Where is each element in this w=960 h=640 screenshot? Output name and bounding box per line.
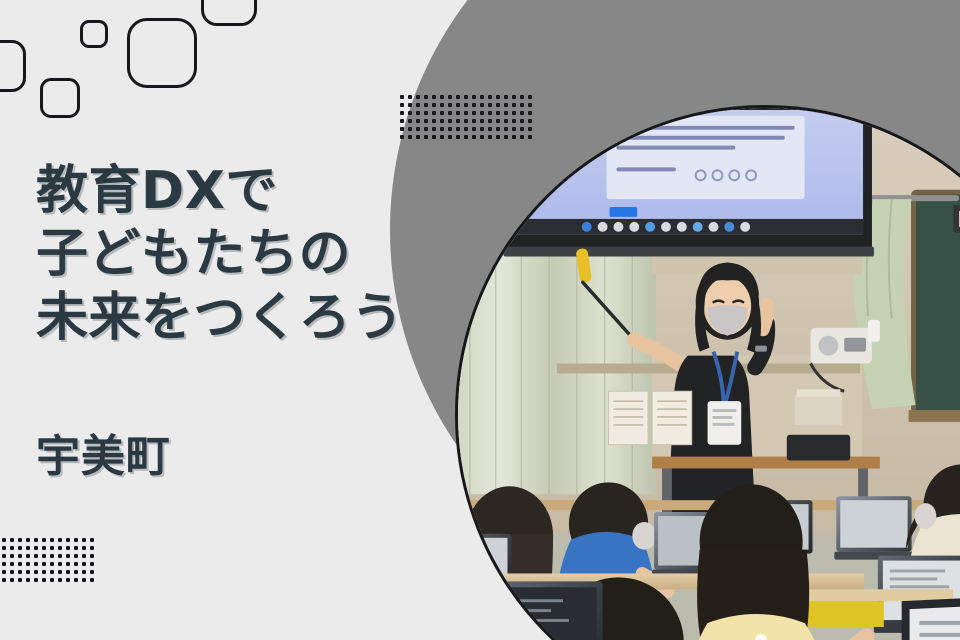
dot <box>34 546 38 550</box>
dot <box>416 135 420 139</box>
dot <box>528 119 532 123</box>
dot <box>528 127 532 131</box>
dot <box>520 95 524 99</box>
dot <box>74 562 78 566</box>
dot <box>2 538 6 542</box>
dot <box>58 546 62 550</box>
rounded-square-3-icon <box>80 20 108 48</box>
rounded-square-1-icon <box>0 40 26 92</box>
dot <box>472 135 476 139</box>
dot <box>90 546 94 550</box>
dot <box>424 135 428 139</box>
dot <box>26 554 30 558</box>
dot <box>66 578 70 582</box>
dot <box>520 119 524 123</box>
dot <box>416 103 420 107</box>
dot-grid-row <box>0 562 94 566</box>
dot <box>50 570 54 574</box>
rounded-square-5-icon <box>201 0 257 26</box>
dot <box>432 127 436 131</box>
dot <box>50 578 54 582</box>
dot <box>50 546 54 550</box>
dot <box>432 103 436 107</box>
dot <box>464 135 468 139</box>
dot <box>82 562 86 566</box>
dot-grid-row <box>0 570 94 574</box>
dot <box>456 135 460 139</box>
dot <box>488 135 492 139</box>
dot <box>66 562 70 566</box>
dot <box>34 538 38 542</box>
dot <box>520 135 524 139</box>
rounded-square-2-icon <box>40 78 80 118</box>
dot <box>400 95 404 99</box>
dot <box>448 95 452 99</box>
dot <box>448 111 452 115</box>
dot <box>400 135 404 139</box>
dot <box>520 127 524 131</box>
dot <box>26 546 30 550</box>
dot <box>90 578 94 582</box>
dot <box>66 570 70 574</box>
dot <box>456 95 460 99</box>
dot <box>456 119 460 123</box>
dot <box>42 538 46 542</box>
dot <box>504 95 508 99</box>
dot <box>82 546 86 550</box>
dot <box>2 562 6 566</box>
dot <box>464 119 468 123</box>
dot-grid-row <box>0 546 94 550</box>
poster-canvas: 教育DXで 子どもたちの 未来をつくろう 宇美町 <box>0 0 960 640</box>
dot <box>480 119 484 123</box>
dot <box>464 95 468 99</box>
dot <box>18 570 22 574</box>
dot <box>90 538 94 542</box>
dot <box>66 538 70 542</box>
dot <box>90 570 94 574</box>
dot <box>408 103 412 107</box>
dot <box>488 111 492 115</box>
dot <box>42 562 46 566</box>
dot-grid-row <box>400 95 532 99</box>
dot <box>74 554 78 558</box>
dot <box>496 135 500 139</box>
dot <box>408 95 412 99</box>
dot <box>488 95 492 99</box>
dot <box>464 103 468 107</box>
dot <box>440 119 444 123</box>
dot <box>488 119 492 123</box>
dot <box>82 538 86 542</box>
dot <box>432 135 436 139</box>
dot <box>528 135 532 139</box>
dot <box>82 554 86 558</box>
dot <box>34 554 38 558</box>
dot <box>520 103 524 107</box>
dot <box>496 95 500 99</box>
dot <box>34 578 38 582</box>
dot <box>432 95 436 99</box>
dot <box>512 119 516 123</box>
dot <box>58 570 62 574</box>
dot <box>18 538 22 542</box>
dot <box>50 554 54 558</box>
dot <box>416 119 420 123</box>
dot <box>2 546 6 550</box>
dot <box>464 111 468 115</box>
dot <box>424 119 428 123</box>
dot <box>26 578 30 582</box>
dot <box>512 95 516 99</box>
dot <box>488 103 492 107</box>
dot <box>26 562 30 566</box>
dot-grid-row <box>0 538 94 542</box>
dot <box>480 111 484 115</box>
dot <box>416 127 420 131</box>
dot <box>82 570 86 574</box>
dot <box>504 135 508 139</box>
dot <box>400 127 404 131</box>
dot <box>496 111 500 115</box>
dot <box>512 103 516 107</box>
dot <box>528 103 532 107</box>
dot <box>432 111 436 115</box>
dot <box>496 119 500 123</box>
dot <box>74 570 78 574</box>
page-title: 教育DXで 子どもたちの 未来をつくろう <box>36 160 466 350</box>
dot-grid-bottom <box>0 538 94 582</box>
dot <box>18 546 22 550</box>
dot <box>2 578 6 582</box>
dot <box>408 135 412 139</box>
dot <box>42 578 46 582</box>
dot <box>440 103 444 107</box>
headline-line-2: 子どもたちの <box>36 223 466 286</box>
dot-grid-row <box>400 103 532 107</box>
dot <box>472 103 476 107</box>
dot <box>58 562 62 566</box>
dot <box>480 127 484 131</box>
dot <box>18 578 22 582</box>
dot-grid-row <box>400 135 532 139</box>
dot <box>448 103 452 107</box>
dot <box>74 538 78 542</box>
organization-name: 宇美町 <box>36 420 171 484</box>
dot <box>10 546 14 550</box>
dot <box>480 95 484 99</box>
dot <box>34 562 38 566</box>
dot <box>464 127 468 131</box>
dot <box>90 554 94 558</box>
dot <box>58 554 62 558</box>
dot <box>480 103 484 107</box>
dot <box>448 135 452 139</box>
dot <box>520 111 524 115</box>
headline-line-3: 未来をつくろう <box>36 287 466 350</box>
dot <box>26 570 30 574</box>
dot <box>512 127 516 131</box>
dot <box>400 111 404 115</box>
dot <box>400 103 404 107</box>
dot <box>456 127 460 131</box>
dot <box>50 562 54 566</box>
dot-grid-row <box>400 127 532 131</box>
dot <box>440 135 444 139</box>
dot <box>448 119 452 123</box>
dot <box>424 127 428 131</box>
dot <box>416 95 420 99</box>
dot <box>42 546 46 550</box>
dot <box>66 554 70 558</box>
dot <box>90 562 94 566</box>
dot <box>512 111 516 115</box>
rounded-square-4-icon <box>127 18 197 88</box>
dot <box>26 538 30 542</box>
dot <box>496 127 500 131</box>
dot <box>10 538 14 542</box>
dot <box>74 546 78 550</box>
dot <box>488 127 492 131</box>
dot <box>10 562 14 566</box>
dot <box>416 111 420 115</box>
dot <box>472 119 476 123</box>
dot <box>472 127 476 131</box>
dot <box>440 95 444 99</box>
dot <box>440 111 444 115</box>
dot <box>10 554 14 558</box>
dot <box>424 111 428 115</box>
dot <box>10 570 14 574</box>
dot <box>408 127 412 131</box>
dot <box>448 127 452 131</box>
dot-grid-row <box>0 578 94 582</box>
dot <box>2 570 6 574</box>
dot <box>42 570 46 574</box>
dot <box>480 135 484 139</box>
dot-grid-row <box>400 111 532 115</box>
headline-line-1: 教育DXで <box>36 160 466 223</box>
dot <box>504 103 508 107</box>
dot <box>408 119 412 123</box>
dot-grid-row <box>400 119 532 123</box>
dot <box>18 562 22 566</box>
dot <box>472 111 476 115</box>
dot <box>424 103 428 107</box>
dot <box>42 554 46 558</box>
dot <box>496 103 500 107</box>
dot <box>58 578 62 582</box>
dot <box>50 538 54 542</box>
dot <box>66 546 70 550</box>
dot <box>456 103 460 107</box>
dot <box>528 111 532 115</box>
dot <box>18 554 22 558</box>
dot <box>34 570 38 574</box>
dot <box>82 578 86 582</box>
dot <box>74 578 78 582</box>
dot <box>440 127 444 131</box>
dot <box>424 95 428 99</box>
dot <box>528 95 532 99</box>
dot-grid-row <box>0 554 94 558</box>
dot-grid-top <box>400 95 532 139</box>
dot <box>58 538 62 542</box>
dot <box>504 127 508 131</box>
dot <box>512 135 516 139</box>
dot <box>504 119 508 123</box>
dot <box>432 119 436 123</box>
dot <box>408 111 412 115</box>
dot <box>456 111 460 115</box>
dot <box>504 111 508 115</box>
dot <box>10 578 14 582</box>
dot <box>472 95 476 99</box>
dot <box>400 119 404 123</box>
dot <box>2 554 6 558</box>
